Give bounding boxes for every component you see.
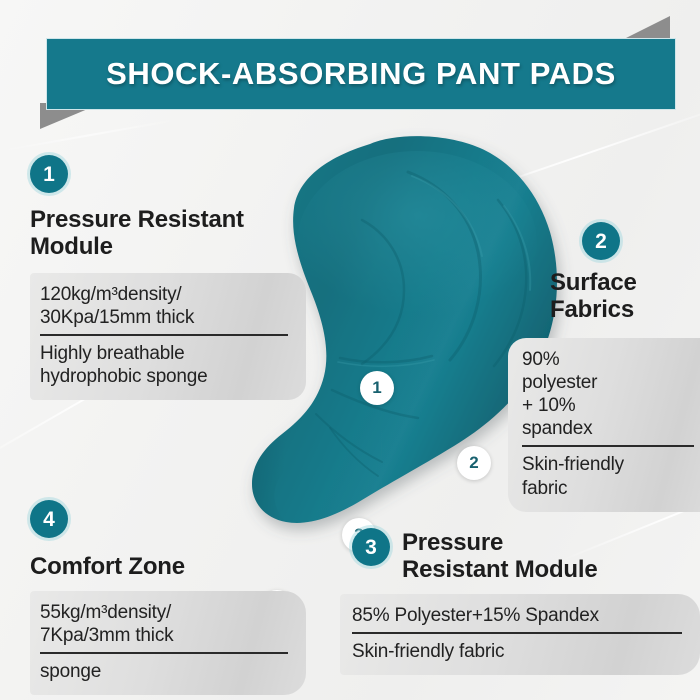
section-title-1: Pressure Resistant Module [30,207,295,261]
section-title-3-line-a: Pressure [402,530,598,557]
feature-section-1: 1 Pressure Resistant Module 120kg/m³dens… [30,155,295,400]
spec-primary-2: 90% polyester + 10% spandex [522,348,694,441]
spec-primary-2-line-a: 90% [522,348,694,371]
section-badge-2: 2 [582,222,620,260]
title-banner: SHOCK-ABSORBING PANT PADS [0,16,700,128]
section-spec-4: 55kg/m³density/ 7Kpa/3mm thick sponge [30,591,306,696]
section-3-header: 3 Pressure Resistant Module [352,528,682,584]
spec-secondary-2-line-a: Skin-friendly [522,453,694,476]
section-title-2-line-b: Fabrics [550,297,700,324]
ribbon-fold-top-right-icon [622,16,670,40]
pad-marker-2[interactable]: 2 [457,446,491,480]
feature-section-4: 4 Comfort Zone 55kg/m³density/ 7Kpa/3mm … [30,500,310,695]
infographic-root: SHOCK-ABSORBING PANT PADS [0,0,700,700]
pad-marker-1[interactable]: 1 [360,371,394,405]
spec-secondary-3-line-a: Skin-friendly fabric [352,640,682,663]
spec-divider-4 [40,652,288,654]
spec-primary-1: 120kg/m³density/ 30Kpa/15mm thick [40,283,288,329]
section-badge-4: 4 [30,500,68,538]
spec-divider-2 [522,445,694,447]
section-spec-1: 120kg/m³density/ 30Kpa/15mm thick Highly… [30,273,306,401]
spec-primary-4: 55kg/m³density/ 7Kpa/3mm thick [40,601,288,647]
section-title-2-line-a: Surface [550,270,700,297]
spec-primary-2-line-c: + 10% [522,394,694,417]
section-title-1-text: Pressure Resistant Module [30,207,295,261]
section-title-3: Pressure Resistant Module [402,530,598,584]
spec-secondary-2: Skin-friendly fabric [522,453,694,499]
spec-primary-4-line-b: 7Kpa/3mm thick [40,624,288,647]
section-spec-3: 85% Polyester+15% Spandex Skin-friendly … [340,594,700,675]
section-title-4-text: Comfort Zone [30,554,310,581]
spec-secondary-1-line-b: hydrophobic sponge [40,365,288,388]
section-badge-3: 3 [352,528,390,566]
page-title: SHOCK-ABSORBING PANT PADS [106,56,616,92]
section-title-3-line-b: Resistant Module [402,557,598,584]
spec-secondary-3: Skin-friendly fabric [352,640,682,663]
spec-primary-1-line-a: 120kg/m³density/ [40,283,288,306]
spec-primary-4-line-a: 55kg/m³density/ [40,601,288,624]
section-spec-2: 90% polyester + 10% spandex Skin-friendl… [508,338,700,512]
spec-divider-1 [40,334,288,336]
spec-primary-3-line-a: 85% Polyester+15% Spandex [352,604,682,627]
spec-secondary-1: Highly breathable hydrophobic sponge [40,342,288,388]
spec-secondary-4: sponge [40,660,288,683]
spec-secondary-2-line-b: fabric [522,477,694,500]
spec-primary-3: 85% Polyester+15% Spandex [352,604,682,627]
spec-secondary-4-line-a: sponge [40,660,288,683]
spec-primary-2-line-b: polyester [522,371,694,394]
spec-primary-1-line-b: 30Kpa/15mm thick [40,306,288,329]
section-badge-1: 1 [30,155,68,193]
spec-secondary-1-line-a: Highly breathable [40,342,288,365]
banner-body: SHOCK-ABSORBING PANT PADS [46,38,676,110]
feature-section-3: 3 Pressure Resistant Module 85% Polyeste… [352,528,682,675]
spec-primary-2-line-d: spandex [522,417,694,440]
section-title-2: Surface Fabrics [550,270,700,324]
feature-section-2: 2 Surface Fabrics 90% polyester + 10% sp… [530,222,700,512]
spec-divider-3 [352,632,682,634]
section-title-4: Comfort Zone [30,554,310,581]
